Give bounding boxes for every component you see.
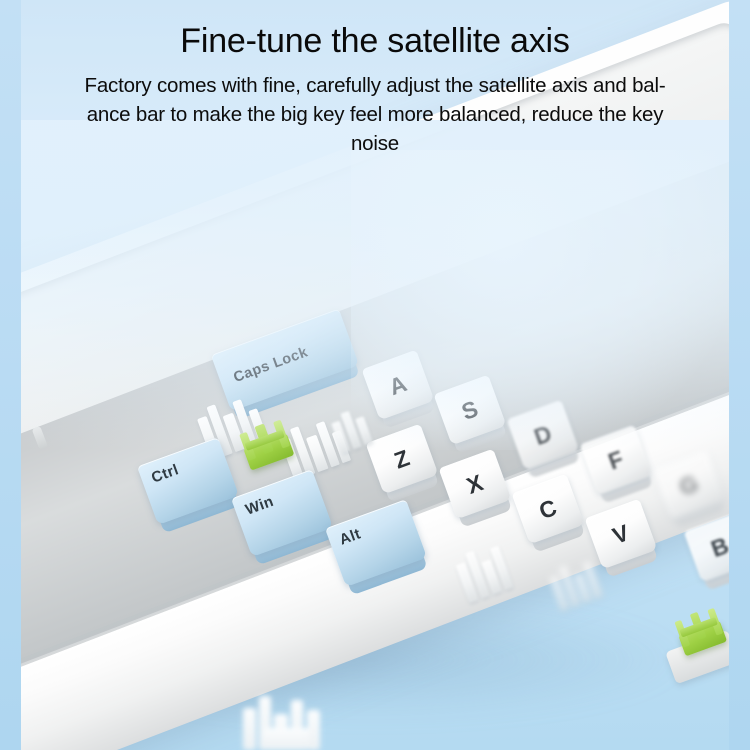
marketing-text-block: Fine-tune the satellite axis Factory com… [0, 22, 750, 158]
right-margin-strip [729, 0, 750, 750]
product-marketing-image: Q Q Q Q Tab W E [0, 0, 750, 750]
loose-stabilizer-foreground [239, 688, 335, 750]
subtitle-line-3: noise [17, 129, 733, 158]
page-subtitle: Factory comes with fine, carefully adjus… [17, 71, 733, 158]
left-margin-strip [0, 0, 21, 750]
subtitle-line-2: ance bar to make the big key feel more b… [17, 100, 733, 129]
subtitle-line-1: Factory comes with fine, carefully adjus… [17, 71, 733, 100]
page-title: Fine-tune the satellite axis [4, 22, 746, 61]
